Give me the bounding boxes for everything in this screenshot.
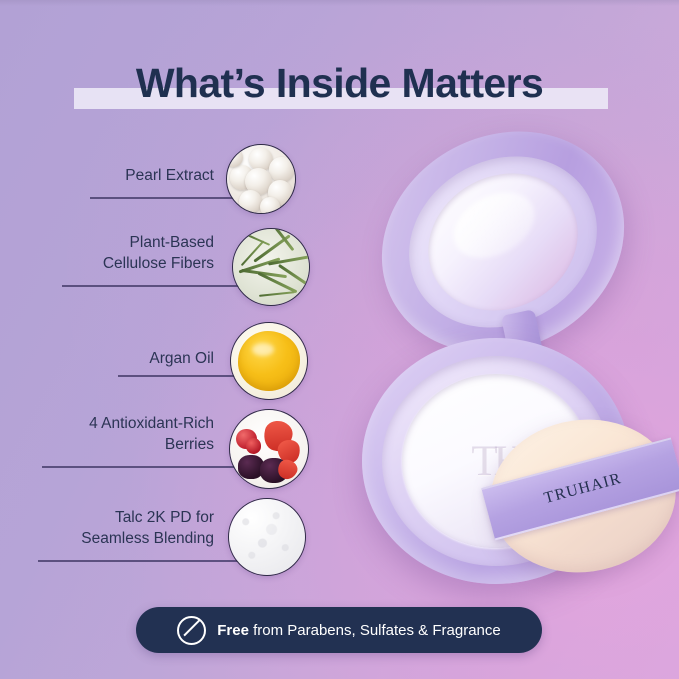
ingredient-label: Plant-Based Cellulose Fibers [18,232,214,274]
ingredient-label: Argan Oil [18,348,214,369]
compact-mirror [404,148,602,337]
free-from-banner: Free from Parabens, Sulfates & Fragrance [136,607,542,653]
product-image: TH TRUHAIR [330,120,679,590]
leader-line [62,285,248,287]
ingredient-label: 4 Antioxidant-Rich Berries [8,413,214,455]
puff-ribbon: TRUHAIR [481,437,679,540]
pine-needles-swatch [232,228,310,306]
ingredient-label: Talc 2K PD for Seamless Blending [8,507,214,549]
brand-name: TRUHAIR [542,470,623,508]
leader-line [118,375,248,377]
oil-highlight [252,343,274,356]
leader-line [38,560,246,562]
oil-image [231,323,307,399]
top-edge-gradient [0,0,679,6]
prohibition-icon [177,616,206,645]
berries-image [230,410,308,488]
page-title-block: What’s Inside Matters [0,52,679,114]
banner-bold-text: Free [217,622,249,639]
talc-texture [229,499,305,575]
leader-line [90,197,240,199]
pine-image [233,229,309,305]
leader-line [42,466,248,468]
ingredient-label: Pearl Extract [18,165,214,186]
pearls-swatch [226,144,296,214]
talc-image [229,499,305,575]
mirror-highlight [442,179,545,271]
berries-swatch [229,409,309,489]
oil-pool [238,331,300,390]
infographic-canvas: What’s Inside Matters TH TRUHAIR P [0,0,679,679]
argan-oil-swatch [230,322,308,400]
talc-powder-swatch [228,498,306,576]
banner-rest-text: from Parabens, Sulfates & Fragrance [249,622,501,639]
banner-text: Free from Parabens, Sulfates & Fragrance [217,622,500,639]
pearls-image [227,145,295,213]
page-title: What’s Inside Matters [0,52,679,114]
